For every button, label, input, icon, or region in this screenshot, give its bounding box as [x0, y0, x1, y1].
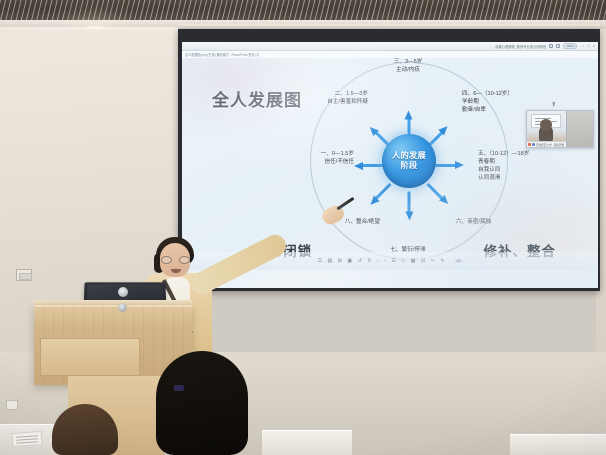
toolbar-icon-13[interactable]: ✂	[431, 259, 435, 264]
toolbar-icon-9[interactable]: ☰	[391, 259, 395, 264]
window-controls[interactable]: – □ ×	[582, 44, 595, 48]
monitor-icon[interactable]	[556, 44, 560, 48]
papers-on-desk	[12, 431, 43, 447]
titlebar-doc-label: 讲稿心理健康_教师专业成长研修班	[495, 43, 546, 49]
ceiling	[0, 0, 606, 22]
stage-label-6: 六、亲密/孤独	[456, 218, 491, 226]
laptop-webcam-icon	[118, 287, 128, 297]
wall-outlet	[6, 400, 18, 410]
participant-silhouette	[539, 125, 553, 142]
toolbar-next-icon[interactable]: ›	[384, 259, 386, 264]
stage-label-1: 一、0—1.5岁 信任/不信任	[272, 150, 354, 166]
toolbar-icon-12[interactable]: ⊟	[421, 259, 425, 264]
toolbar-icon-10[interactable]: ◇	[401, 259, 405, 264]
minimize-icon[interactable]: –	[582, 44, 584, 48]
toolbar-prev-icon[interactable]: ‹	[377, 259, 379, 264]
person-icon	[532, 143, 535, 146]
desk-middle	[262, 430, 352, 455]
audience-member-1	[156, 351, 248, 455]
stage-label-3: 三、3—5岁 主动/内疚	[348, 58, 468, 74]
stage-label-8: 八、整合/绝望	[306, 218, 380, 226]
stage-label-4: 四、6—（10-12岁） 学龄期 勤奋/自卑	[462, 90, 513, 114]
stage-label-5: 五、（10-12）—18岁 青春期 自我认同 认同混淆	[478, 150, 529, 182]
hub-line-2: 阶段	[401, 162, 418, 170]
file-strip: 全人发展图.png (只读) 兼容模式 - PowerPoint 登录 (3)	[182, 51, 598, 58]
desk-right	[510, 434, 606, 455]
toolbar-undo-icon[interactable]: ↺	[358, 259, 362, 264]
development-stages-wheel: 人的发展 阶段 三、3—5岁 主动/内疚 四、6—（10-12岁） 学龄期 勤奋…	[310, 62, 508, 260]
page-indicator: 1/1	[454, 259, 462, 263]
gear-icon[interactable]	[549, 44, 553, 48]
glasses-icon	[161, 256, 190, 264]
toolbar-icon-4[interactable]: ▣	[347, 259, 352, 264]
zoom-level[interactable]: 100%	[563, 43, 577, 49]
ceiling-grille	[0, 0, 606, 22]
video-tile-presenter[interactable]: 安徽师范大学 - 理论研修	[527, 111, 566, 147]
maximize-icon[interactable]: □	[587, 44, 589, 48]
toolbar-pen-icon[interactable]: ✎	[440, 259, 444, 264]
close-icon[interactable]: ×	[593, 44, 595, 48]
wall-switch-panel[interactable]	[16, 269, 32, 281]
mic-muted-icon	[528, 143, 531, 146]
wall-cabinet	[40, 338, 140, 376]
toolbar-icon-1[interactable]: ☲	[317, 259, 321, 264]
toolbar-redo-icon[interactable]: ↻	[367, 259, 371, 264]
participant-name: 安徽师范大学 - 理论研修	[536, 142, 564, 146]
stage-label-2: 二、1.5—3岁 自主/害羞和怀疑	[282, 90, 368, 106]
app-titlebar: 讲稿心理健康_教师专业成长研修班 100% – □ ×	[182, 42, 598, 51]
toolbar-icon-3[interactable]: ⊞	[338, 259, 342, 264]
toolbar-icon-2[interactable]: ▤	[327, 259, 332, 264]
video-tile-secondary[interactable]	[566, 111, 593, 147]
podium-control-knob[interactable]	[118, 303, 127, 312]
classroom-scene: 讲稿心理健康_教师专业成长研修班 100% – □ × 全人发展图.png (只…	[0, 0, 606, 455]
hub-line-1: 人的发展	[392, 152, 426, 160]
document-filename: 全人发展图.png (只读) 兼容模式 - PowerPoint 登录 (3)	[182, 52, 259, 58]
toolbar-icon-11[interactable]: ▦	[411, 259, 416, 264]
video-conference-panel[interactable]: 安徽师范大学 - 理论研修	[526, 110, 594, 148]
wheel-hub: 人的发展 阶段	[382, 134, 436, 188]
video-tile-namebar: 安徽师范大学 - 理论研修	[527, 141, 566, 147]
